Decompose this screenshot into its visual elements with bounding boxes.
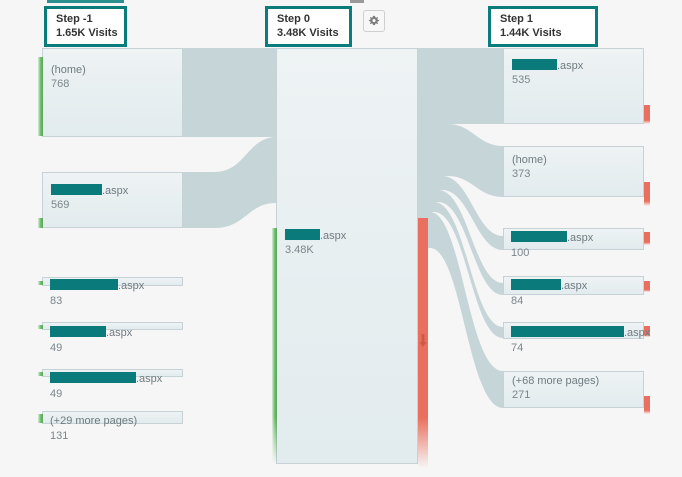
- node-c1-redaction: [285, 229, 320, 240]
- node-l1-value: 768: [51, 77, 178, 92]
- node-l1[interactable]: (home) 768: [42, 48, 183, 137]
- node-l3-redaction: [50, 279, 118, 290]
- node-r5-name: .aspx: [511, 327, 650, 339]
- node-r1-suffix: .aspx: [557, 60, 583, 72]
- node-c1-name: .aspx: [285, 229, 413, 243]
- clipped-top-strip-secondary: [350, 0, 364, 3]
- node-l2[interactable]: .aspx 569: [42, 172, 183, 228]
- node-l4-value: 49: [50, 341, 132, 356]
- node-r4-suffix: .aspx: [561, 280, 587, 292]
- step-minus1-line1: Step -1: [56, 12, 115, 26]
- dropoff-bar-r2: [644, 182, 650, 206]
- node-l6-text: (+29 more pages) 131: [50, 414, 137, 444]
- entrance-bar-l4: [38, 325, 43, 329]
- node-r6-text: (+68 more pages) 271: [512, 374, 639, 403]
- dropoff-arrow-icon: [418, 332, 428, 350]
- node-c1-text: .aspx 3.48K: [285, 229, 413, 258]
- node-l5-value: 49: [50, 387, 162, 402]
- entrance-bar-l2: [38, 218, 43, 228]
- node-r3-text: .aspx 100: [511, 231, 593, 261]
- node-l2-suffix: .aspx: [102, 185, 128, 197]
- node-r3-redaction: [511, 231, 567, 242]
- flow-home-to-step0: [183, 48, 276, 137]
- node-c1-suffix: .aspx: [320, 230, 346, 242]
- node-r4-name: .aspx: [511, 280, 587, 292]
- dropoff-bar-r3: [644, 232, 650, 245]
- step-label-1[interactable]: Step 1 1.44K Visits: [488, 6, 598, 47]
- gear-icon[interactable]: [363, 10, 385, 32]
- node-l6-value: 131: [50, 429, 137, 444]
- node-r4-value: 84: [511, 294, 587, 309]
- node-l6-name: (+29 more pages): [50, 415, 137, 427]
- node-l1-text: (home) 768: [51, 63, 178, 92]
- node-l5-redaction: [50, 372, 136, 383]
- node-r4-text: .aspx 84: [511, 279, 587, 309]
- node-l3-suffix: .aspx: [118, 280, 144, 292]
- node-l2-value: 569: [51, 198, 178, 213]
- node-r5-redaction: [511, 326, 624, 337]
- node-r6-name: (+68 more pages): [512, 374, 639, 388]
- node-r1-name: .aspx: [512, 59, 639, 73]
- node-r6-value: 271: [512, 388, 639, 403]
- node-r1-redaction: [512, 59, 557, 70]
- node-r2-value: 373: [512, 167, 639, 182]
- dropoff-bar-r6: [644, 396, 650, 414]
- dropoff-bar-r4: [644, 281, 650, 292]
- node-r5-text: .aspx 74: [511, 326, 650, 356]
- node-r5-suffix: .aspx: [624, 327, 650, 339]
- step-label-minus1[interactable]: Step -1 1.65K Visits: [44, 6, 127, 47]
- node-l1-name: (home): [51, 63, 178, 77]
- node-l3-name: .aspx: [50, 280, 144, 292]
- node-l2-redaction: [51, 184, 102, 195]
- node-c1[interactable]: .aspx 3.48K: [276, 48, 418, 464]
- clipped-top-strip: [47, 0, 124, 3]
- step-0-line1: Step 0: [277, 12, 340, 26]
- node-r6[interactable]: (+68 more pages) 271: [503, 371, 644, 408]
- node-l3-value: 83: [50, 294, 144, 309]
- entrance-bar-l6: [38, 414, 43, 423]
- node-r1[interactable]: .aspx 535: [503, 48, 644, 124]
- node-r1-text: .aspx 535: [512, 59, 639, 88]
- node-l2-text: .aspx 569: [51, 184, 178, 213]
- node-r5-value: 74: [511, 341, 650, 356]
- dropoff-bar-r1: [644, 105, 650, 124]
- step-minus1-line2: 1.65K Visits: [56, 26, 115, 40]
- step-1-line1: Step 1: [500, 12, 586, 26]
- entrance-bar-c1: [272, 228, 277, 464]
- entrance-bar-l1: [38, 57, 43, 136]
- node-r3-suffix: .aspx: [567, 232, 593, 244]
- flow-step0-to-r1: [418, 48, 503, 124]
- dropoff-bar-c1: [418, 218, 428, 468]
- node-l2-name: .aspx: [51, 184, 178, 198]
- node-l5-name: .aspx: [50, 373, 162, 385]
- node-l3-text: .aspx 83: [50, 279, 144, 309]
- node-l4-redaction: [50, 326, 106, 337]
- node-l4-name: .aspx: [50, 327, 132, 339]
- step-0-line2: 3.48K Visits: [277, 26, 340, 40]
- behavior-flow-canvas: Step -1 1.65K Visits Step 0 3.48K Visits…: [0, 0, 682, 477]
- step-label-0[interactable]: Step 0 3.48K Visits: [265, 6, 352, 47]
- flow-node2-to-step0: [183, 137, 276, 228]
- node-l5-text: .aspx 49: [50, 372, 162, 402]
- node-r1-value: 535: [512, 73, 639, 88]
- entrance-bar-l3: [38, 281, 43, 285]
- node-r3-value: 100: [511, 246, 593, 261]
- node-r4-redaction: [511, 279, 561, 290]
- node-r2[interactable]: (home) 373: [503, 146, 644, 197]
- node-r3-name: .aspx: [511, 232, 593, 244]
- step-1-line2: 1.44K Visits: [500, 26, 586, 40]
- entrance-bar-l5: [38, 372, 43, 376]
- node-l4-suffix: .aspx: [106, 327, 132, 339]
- node-l4-text: .aspx 49: [50, 326, 132, 356]
- node-r2-name: (home): [512, 153, 639, 167]
- node-l1-label: (home): [51, 64, 86, 76]
- node-c1-value: 3.48K: [285, 243, 413, 258]
- node-r2-text: (home) 373: [512, 153, 639, 182]
- node-l5-suffix: .aspx: [136, 373, 162, 385]
